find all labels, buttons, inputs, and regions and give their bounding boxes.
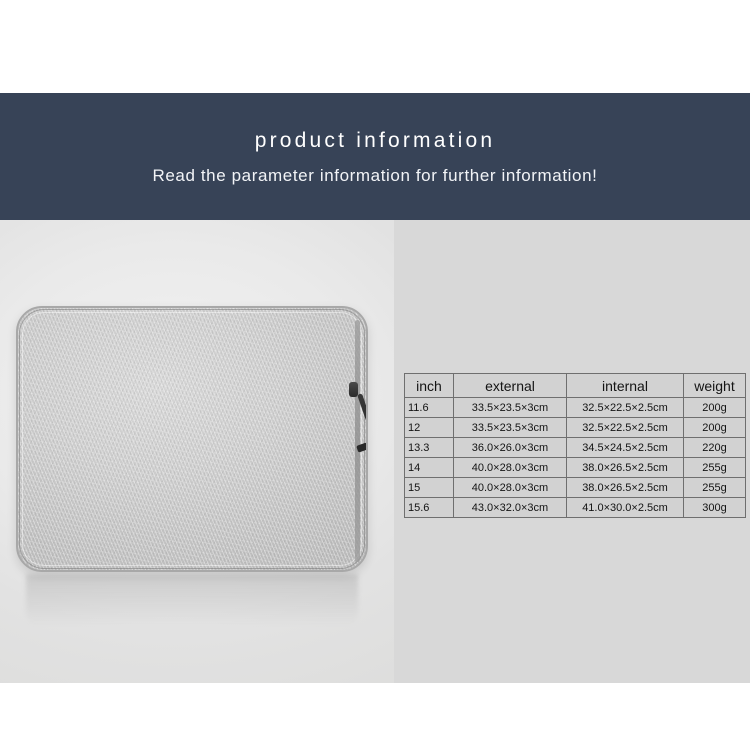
specification-table: inch external internal weight 11.6 33.5×… <box>404 373 746 518</box>
column-header-external: external <box>454 374 567 398</box>
product-information-page: product information Read the parameter i… <box>0 0 750 750</box>
cell-inch: 15 <box>405 478 454 498</box>
spec-table-pane: inch external internal weight 11.6 33.5×… <box>394 220 750 683</box>
table-row: 13.3 36.0×26.0×3cm 34.5×24.5×2.5cm 220g <box>405 438 746 458</box>
fabric-texture <box>18 308 366 570</box>
content-area: inch external internal weight 11.6 33.5×… <box>0 220 750 683</box>
table-row: 15.6 43.0×32.0×3cm 41.0×30.0×2.5cm 300g <box>405 498 746 518</box>
cell-inch: 11.6 <box>405 398 454 418</box>
product-reflection <box>26 574 358 634</box>
cell-external: 40.0×28.0×3cm <box>454 458 567 478</box>
column-header-inch: inch <box>405 374 454 398</box>
cell-weight: 255g <box>684 478 746 498</box>
cell-inch: 15.6 <box>405 498 454 518</box>
cell-internal: 38.0×26.5×2.5cm <box>567 458 684 478</box>
cell-weight: 220g <box>684 438 746 458</box>
product-image <box>16 306 368 572</box>
cell-weight: 255g <box>684 458 746 478</box>
cell-internal: 41.0×30.0×2.5cm <box>567 498 684 518</box>
cell-internal: 38.0×26.5×2.5cm <box>567 478 684 498</box>
cell-external: 33.5×23.5×3cm <box>454 418 567 438</box>
cell-internal: 34.5×24.5×2.5cm <box>567 438 684 458</box>
cell-weight: 300g <box>684 498 746 518</box>
cell-weight: 200g <box>684 418 746 438</box>
cell-inch: 13.3 <box>405 438 454 458</box>
table-header-row: inch external internal weight <box>405 374 746 398</box>
zipper-track-icon <box>355 320 360 562</box>
column-header-weight: weight <box>684 374 746 398</box>
product-photo-pane <box>0 220 394 683</box>
table-row: 15 40.0×28.0×3cm 38.0×26.5×2.5cm 255g <box>405 478 746 498</box>
table-row: 12 33.5×23.5×3cm 32.5×22.5×2.5cm 200g <box>405 418 746 438</box>
cell-external: 43.0×32.0×3cm <box>454 498 567 518</box>
cell-inch: 12 <box>405 418 454 438</box>
cell-internal: 32.5×22.5×2.5cm <box>567 418 684 438</box>
cell-internal: 32.5×22.5×2.5cm <box>567 398 684 418</box>
column-header-internal: internal <box>567 374 684 398</box>
cell-weight: 200g <box>684 398 746 418</box>
table-row: 14 40.0×28.0×3cm 38.0×26.5×2.5cm 255g <box>405 458 746 478</box>
cell-external: 40.0×28.0×3cm <box>454 478 567 498</box>
page-title: product information <box>255 130 496 151</box>
page-subtitle: Read the parameter information for furth… <box>153 167 598 184</box>
laptop-sleeve-body <box>16 306 368 572</box>
cell-external: 36.0×26.0×3cm <box>454 438 567 458</box>
table-header: inch external internal weight <box>405 374 746 398</box>
cell-inch: 14 <box>405 458 454 478</box>
cell-external: 33.5×23.5×3cm <box>454 398 567 418</box>
table-row: 11.6 33.5×23.5×3cm 32.5×22.5×2.5cm 200g <box>405 398 746 418</box>
page-banner: product information Read the parameter i… <box>0 93 750 220</box>
table-body: 11.6 33.5×23.5×3cm 32.5×22.5×2.5cm 200g … <box>405 398 746 518</box>
